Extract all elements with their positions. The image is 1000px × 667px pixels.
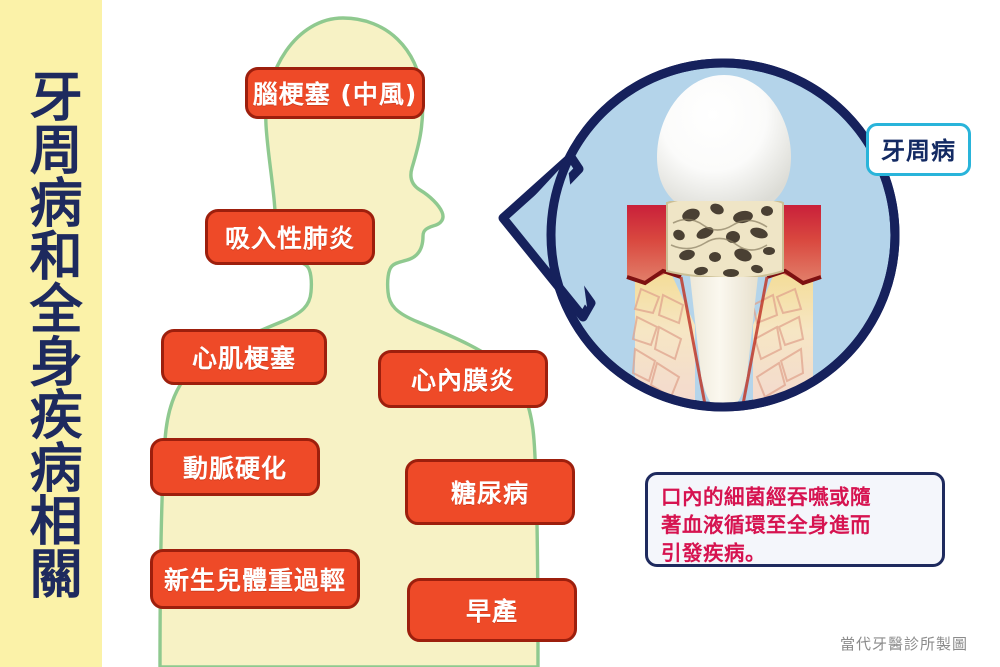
disease-pill-endocarditis[interactable]: 心內膜炎: [378, 350, 548, 408]
title-band: 牙周病和全身疾病相關: [0, 0, 102, 667]
page-title: 牙周病和全身疾病相關: [0, 0, 102, 667]
plaque-calculus: [667, 196, 783, 278]
disease-pill-cerebral-infarction[interactable]: 腦梗塞 (中風): [245, 67, 425, 119]
disease-pill-label: 早產: [466, 592, 518, 628]
disease-pill-label: 糖尿病: [451, 474, 529, 510]
disease-pill-label: 吸入性肺炎: [225, 219, 355, 255]
caption-box: 口內的細菌經吞嚥或隨 著血液循環至全身進而 引發疾病。: [645, 472, 945, 567]
disease-pill-label: 心肌梗塞: [192, 339, 296, 375]
disease-pill-arteriosclerosis[interactable]: 動脈硬化: [150, 438, 320, 496]
disease-pill-premature-birth[interactable]: 早產: [407, 578, 577, 642]
credit-text: 當代牙醫診所製圖: [840, 633, 968, 654]
disease-pill-low-birth-weight[interactable]: 新生兒體重過輕: [150, 549, 360, 609]
periodontal-disease-tag: 牙周病: [866, 123, 971, 176]
disease-pill-label: 心內膜炎: [411, 361, 515, 397]
periodontal-callout-bubble: [495, 45, 925, 435]
disease-pill-myocardial-infarction[interactable]: 心肌梗塞: [161, 329, 327, 385]
disease-pill-aspiration-pneumonia[interactable]: 吸入性肺炎: [205, 209, 375, 265]
disease-pill-label: 動脈硬化: [183, 449, 287, 485]
infographic-page: 牙周病和全身疾病相關: [0, 0, 1000, 667]
disease-pill-diabetes[interactable]: 糖尿病: [405, 459, 575, 525]
disease-pill-label: 新生兒體重過輕: [164, 561, 346, 597]
disease-pill-label: 腦梗塞 (中風): [253, 75, 418, 111]
